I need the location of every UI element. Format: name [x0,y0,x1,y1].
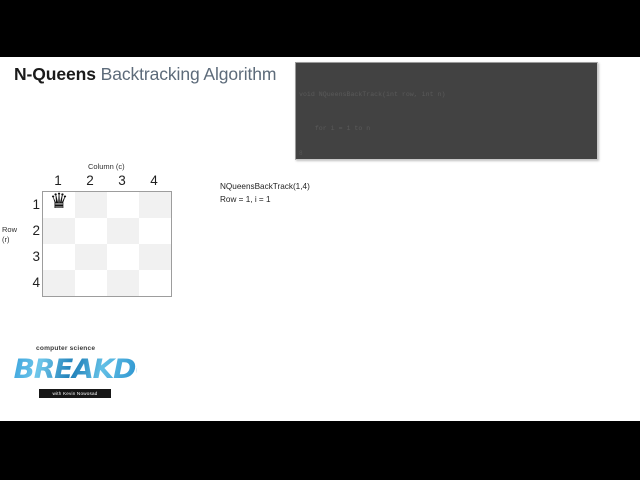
video-frame: N-Queens Backtracking Algorithm void NQu… [0,0,640,480]
code-listing: void NQueensBackTrack(int row, int n) fo… [299,66,595,160]
board-row [43,218,171,244]
row-number-column: 1 2 3 4 [22,192,40,296]
board-cell-r2-c1[interactable] [43,218,75,244]
column-number-row: 1 2 3 4 [42,173,170,188]
logo-banner: with Kevin Nowosad [39,389,111,398]
call-trace-line2: Row = 1, i = 1 [220,194,310,207]
code-line: void NQueensBackTrack(int row, int n) [299,89,595,100]
call-trace-line1: NQueensBackTrack(1,4) [220,181,310,194]
page-title: N-Queens Backtracking Algorithm [14,64,276,85]
board-cell-r3-c4[interactable] [139,244,171,270]
column-number: 4 [138,173,170,188]
column-number: 2 [74,173,106,188]
board-cell-r4-c1[interactable] [43,270,75,296]
row-number: 3 [22,244,40,270]
call-trace-annotation: NQueensBackTrack(1,4) Row = 1, i = 1 [220,181,310,206]
board-cell-r1-c2[interactable] [75,192,107,218]
board-cell-r3-c3[interactable] [107,244,139,270]
board-cell-r4-c4[interactable] [139,270,171,296]
board-row: ♛ [43,192,171,218]
letterbox-bar-bottom [0,421,640,480]
board-row [43,270,171,296]
board-cell-r2-c2[interactable] [75,218,107,244]
board-cell-r1-c3[interactable] [107,192,139,218]
channel-logo: computer science BREAKDOWN with Kevin No… [16,345,134,407]
board-cell-r2-c4[interactable] [139,218,171,244]
board-cell-r1-c1[interactable]: ♛ [43,192,75,218]
code-line: for i = 1 to n [299,123,595,134]
letterbox-bar-top [0,0,640,57]
page-title-subtitle: Backtracking Algorithm [96,64,277,84]
column-number: 3 [106,173,138,188]
column-axis-label: Column (c) [88,162,125,171]
row-number: 2 [22,218,40,244]
board-row [43,244,171,270]
board-cell-r1-c4[interactable] [139,192,171,218]
board-cell-r3-c1[interactable] [43,244,75,270]
code-gutter-marker: 8 [299,150,303,157]
board-cell-r2-c3[interactable] [107,218,139,244]
slide-canvas: N-Queens Backtracking Algorithm void NQu… [0,57,640,421]
code-line: if promising(row, i) [299,157,595,160]
chessboard: ♛ [42,191,172,297]
row-number: 1 [22,192,40,218]
code-panel: void NQueensBackTrack(int row, int n) fo… [295,62,598,160]
row-number: 4 [22,270,40,296]
page-title-main: N-Queens [14,64,96,84]
board-cell-r3-c2[interactable] [75,244,107,270]
board-cell-r4-c2[interactable] [75,270,107,296]
column-number: 1 [42,173,74,188]
logo-tagline: computer science [36,345,95,352]
board-cell-r4-c3[interactable] [107,270,139,296]
queen-piece-icon: ♛ [43,188,75,214]
logo-wordmark: BREAKDOWN [14,353,137,387]
